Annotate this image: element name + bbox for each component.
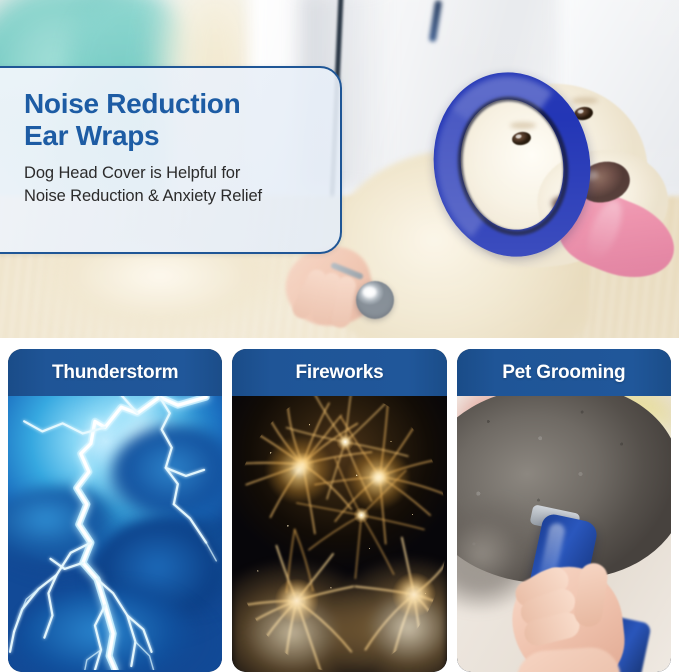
page-subtitle: Dog Head Cover is Helpful for Noise Redu… [24,162,322,208]
card-header: Fireworks [232,349,446,396]
page-title: Noise Reduction Ear Wraps [24,88,322,153]
lightning-bolt-icon [8,391,222,670]
card-title: Fireworks [296,362,384,384]
card-header: Thunderstorm [8,349,222,396]
use-case-card-pet-grooming: Pet Grooming [457,349,671,672]
headline-panel-content: Noise Reduction Ear Wraps Dog Head Cover… [24,88,322,207]
fireworks-night-image [232,391,446,672]
card-title: Pet Grooming [502,362,625,384]
stethoscope-chestpiece [356,281,394,319]
subline-line-1: Dog Head Cover is Helpful for [24,164,240,182]
card-title: Thunderstorm [52,362,178,384]
headline-panel: Noise Reduction Ear Wraps Dog Head Cover… [0,66,342,254]
headline-line-2: Ear Wraps [24,120,159,151]
firework-ground-burst-glow [232,552,446,672]
use-case-card-fireworks: Fireworks [232,349,446,672]
lightning-storm-image [8,391,222,672]
use-case-card-row: Thunderstorm [0,349,679,672]
subline-line-2: Noise Reduction & Anxiety Relief [24,187,262,205]
headline-line-1: Noise Reduction [24,88,240,119]
product-listing-image: Noise Reduction Ear Wraps Dog Head Cover… [0,0,679,672]
dog-brow [572,97,598,104]
card-header: Pet Grooming [457,349,671,396]
dog-clipper-grooming-image [457,391,671,672]
use-case-card-thunderstorm: Thunderstorm [8,349,222,672]
hero-image: Noise Reduction Ear Wraps Dog Head Cover… [0,0,679,338]
